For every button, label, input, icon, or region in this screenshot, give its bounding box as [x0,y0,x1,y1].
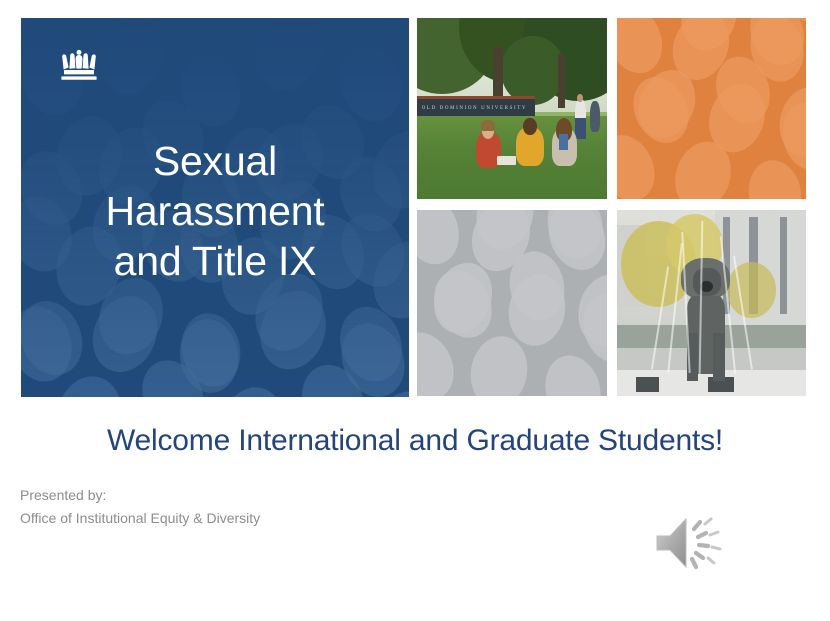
photo-lion-fountain [617,210,806,396]
photo-foreground-dark [636,377,659,392]
photo-tree-trunk [558,54,566,108]
title-line-1: Sexual [21,136,409,186]
slide-title: Sexual Harassment and Title IX [21,136,409,286]
photo-person-standing [590,101,600,132]
oval-pattern-gray [417,210,607,396]
presented-by-label: Presented by: [20,484,260,507]
photo-person-hair [481,120,495,131]
speaker-audio-icon[interactable] [653,512,725,574]
presentation-slide: Sexual Harassment and Title IX OLD DOMIN… [0,0,830,621]
photo-tree [501,36,566,105]
title-line-2: Harassment [21,186,409,236]
title-line-3: and Title IX [21,236,409,286]
photo-content-lion [617,210,806,396]
crown-logo [59,49,99,83]
presenter-block: Presented by: Office of Institutional Eq… [20,484,260,530]
photo-campus-sign-text: OLD DOMINION UNIVERSITY [422,106,527,111]
photo-book [497,156,516,165]
photo-building-column [780,217,788,314]
photo-person-shirt [559,134,569,150]
title-panel: Sexual Harassment and Title IX [21,18,409,397]
orange-pattern-tile [617,18,806,199]
photo-person-standing-legs [575,118,586,140]
oval-pattern-orange [617,18,806,199]
photo-students-on-lawn: OLD DOMINION UNIVERSITY [417,18,607,199]
photo-lion-leg [713,333,724,381]
photo-person-head [523,118,536,135]
presenter-office-name: Office of Institutional Equity & Diversi… [20,507,260,530]
photo-foliage [727,262,776,318]
photo-content-students: OLD DOMINION UNIVERSITY [417,18,607,199]
gray-pattern-tile [417,210,607,396]
slide-subtitle: Welcome International and Graduate Stude… [0,424,830,458]
